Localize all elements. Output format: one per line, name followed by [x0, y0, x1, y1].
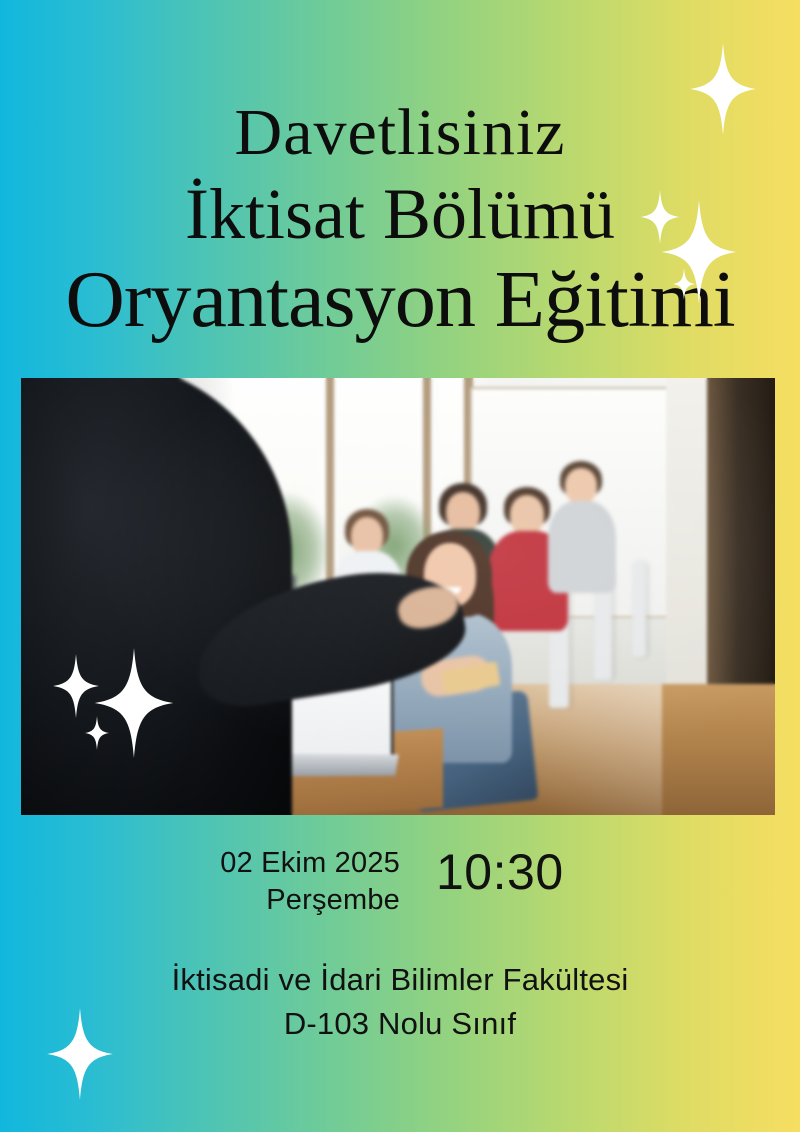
photo-scene: [21, 378, 775, 815]
headline-line-3: Oryantasyon Eğitimi: [0, 260, 800, 340]
student-body: [548, 501, 616, 593]
venue-room: D-103 Nolu Sınıf: [0, 1002, 800, 1046]
student-head: [351, 517, 383, 555]
event-datetime: 02 Ekim 2025 Perşembe 10:30: [0, 845, 800, 925]
event-poster: Davetlisiniz İktisat Bölümü Oryantasyon …: [0, 0, 800, 1132]
chair: [632, 562, 646, 657]
venue-faculty: İktisadi ve İdari Bilimler Fakültesi: [0, 958, 800, 1002]
event-date: 02 Ekim 2025: [120, 845, 400, 882]
student-head: [510, 495, 544, 535]
classroom-photo: [21, 378, 775, 815]
student-head: [446, 492, 480, 532]
event-date-block: 02 Ekim 2025 Perşembe: [120, 845, 400, 919]
poster-headline: Davetlisiniz İktisat Bölümü Oryantasyon …: [0, 100, 800, 340]
event-day: Perşembe: [120, 882, 400, 919]
wall-panel: [666, 378, 711, 719]
student-head: [565, 468, 597, 504]
event-time: 10:30: [436, 847, 564, 897]
headline-line-2: İktisat Bölümü: [0, 178, 800, 250]
headline-line-1: Davetlisiniz: [0, 100, 800, 166]
student: [560, 461, 628, 597]
instructor-silhouette: [21, 378, 292, 815]
event-venue: İktisadi ve İdari Bilimler Fakültesi D-1…: [0, 958, 800, 1046]
